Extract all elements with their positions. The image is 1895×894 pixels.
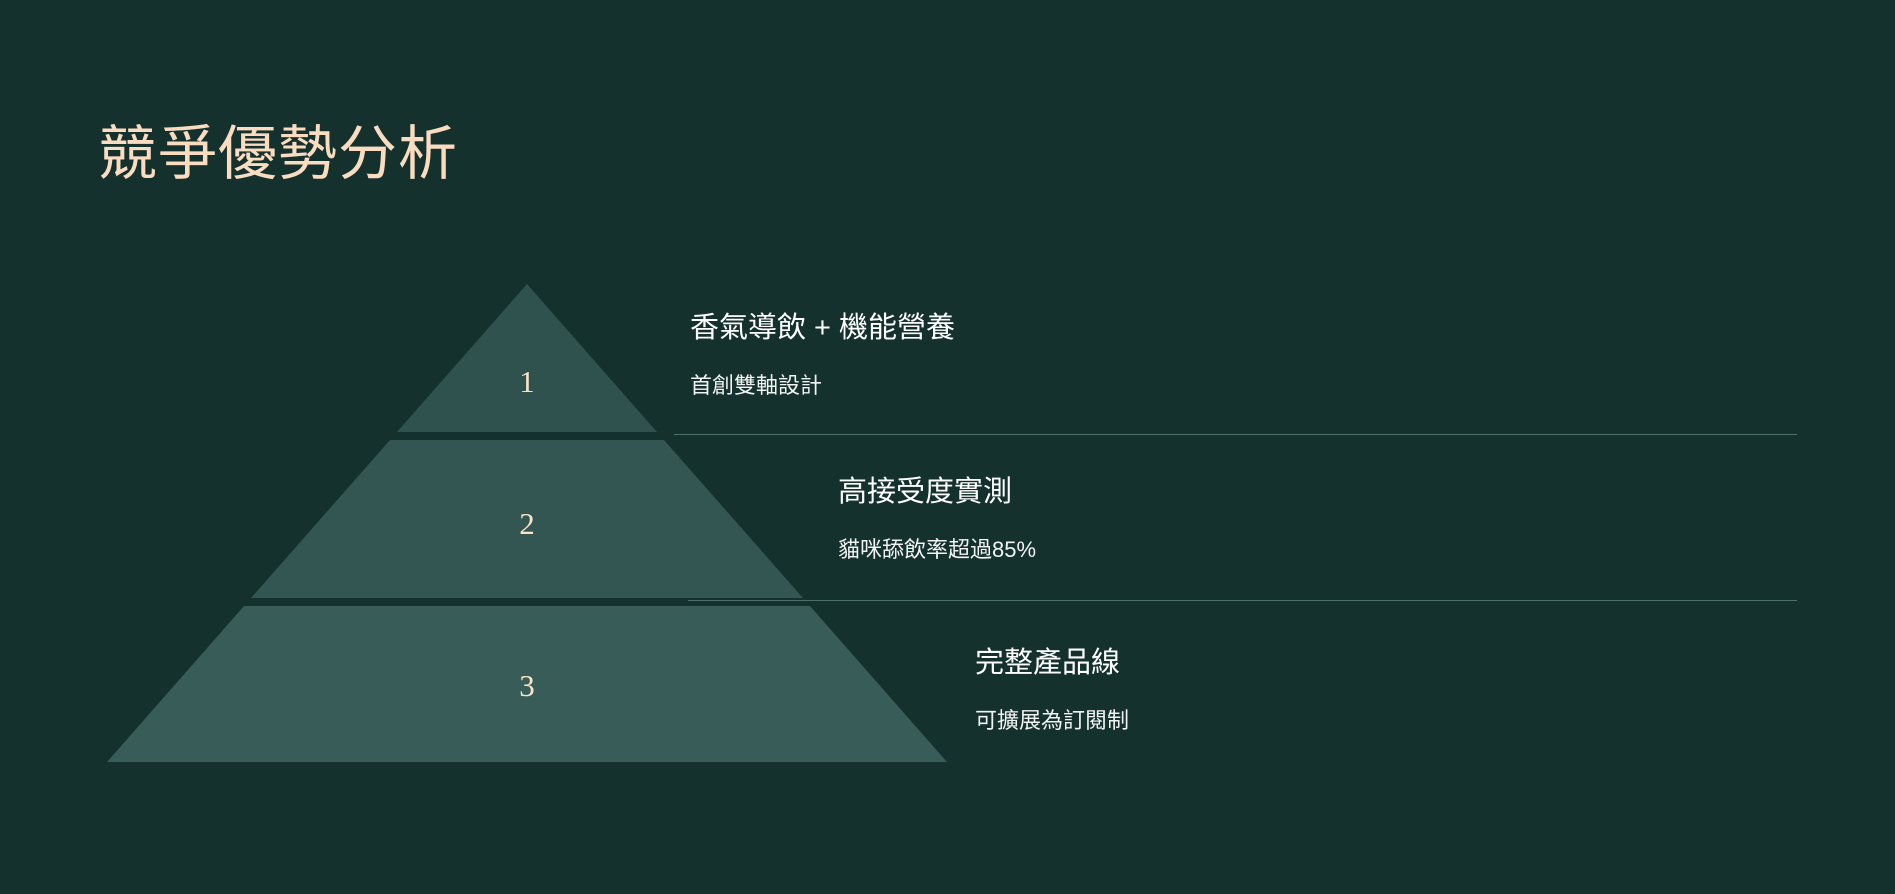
pyramid-tier-2-text: 高接受度實測 貓咪舔飲率超過85%: [838, 474, 1036, 565]
page-title: 競爭優勢分析: [98, 122, 458, 187]
pyramid-tier-3-subtitle: 可擴展為訂閱制: [975, 707, 1129, 736]
pyramid-tier-3-text: 完整產品線 可擴展為訂閱制: [975, 645, 1129, 736]
pyramid-tier-2-heading: 高接受度實測: [838, 474, 1036, 510]
pyramid-tier-1-text: 香氣導飲 + 機能營養 首創雙軸設計: [690, 310, 955, 401]
slide-canvas: 競爭優勢分析 1 2 3 香氣導飲 + 機能營養 首創雙軸設計 高接受度實測 貓…: [0, 0, 1895, 894]
pyramid-tier-1-subtitle: 首創雙軸設計: [690, 372, 955, 401]
tier-divider-2: [688, 600, 1797, 601]
pyramid-tier-3-number: 3: [467, 670, 587, 701]
pyramid-tier-1-heading: 香氣導飲 + 機能營養: [690, 310, 955, 346]
pyramid-tier-3-heading: 完整產品線: [975, 645, 1129, 681]
pyramid-tier-1-shape: [397, 284, 657, 432]
pyramid-tier-2-number: 2: [467, 508, 587, 539]
pyramid-tier-1-number: 1: [467, 366, 587, 397]
tier-divider-1: [674, 434, 1797, 435]
pyramid-tier-2-subtitle: 貓咪舔飲率超過85%: [838, 536, 1036, 565]
